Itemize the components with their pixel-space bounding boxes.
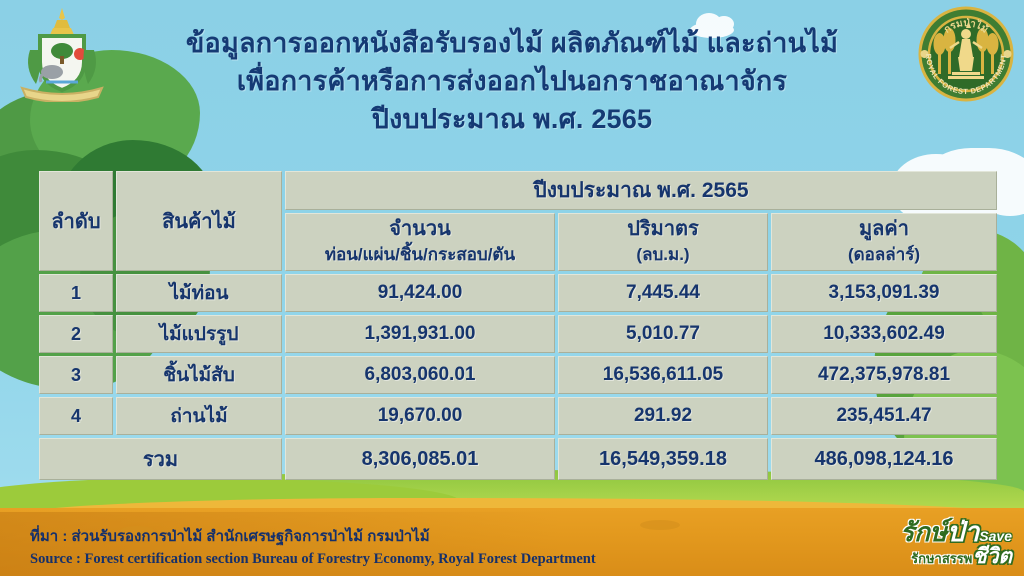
table-row: 3 ชิ้นไม้สับ 6,803,060.01 16,536,611.05 … (39, 356, 997, 394)
row-index: 2 (39, 315, 113, 353)
column-header-quantity: จำนวน ท่อน/แผ่น/ชิ้น/กระสอบ/ตัน (285, 213, 555, 271)
column-header-value: มูลค่า (ดอลล่าร์) (771, 213, 997, 271)
row-quantity: 19,670.00 (285, 397, 555, 435)
row-value: 3,153,091.39 (771, 274, 997, 312)
row-index: 4 (39, 397, 113, 435)
row-value: 10,333,602.49 (771, 315, 997, 353)
row-value: 235,451.47 (771, 397, 997, 435)
column-header-volume-units: (ลบ.ม.) (563, 242, 763, 268)
row-value: 472,375,978.81 (771, 356, 997, 394)
table-header-row-1: ลำดับ สินค้าไม้ ปีงบประมาณ พ.ศ. 2565 (39, 171, 997, 210)
slide-canvas: กรมป่าไม้ ROYAL FOREST DEPARTMENT ข้อมูล… (0, 0, 1024, 576)
row-volume: 291.92 (558, 397, 768, 435)
total-quantity: 8,306,085.01 (285, 438, 555, 480)
table-body: 1 ไม้ท่อน 91,424.00 7,445.44 3,153,091.3… (39, 274, 997, 480)
row-index: 1 (39, 274, 113, 312)
column-header-value-units: (ดอลล่าร์) (776, 242, 992, 268)
table-row: 2 ไม้แปรรูป 1,391,931.00 5,010.77 10,333… (39, 315, 997, 353)
table-header: ลำดับ สินค้าไม้ ปีงบประมาณ พ.ศ. 2565 จำน… (39, 171, 997, 271)
total-value: 486,098,124.16 (771, 438, 997, 480)
table-row: 1 ไม้ท่อน 91,424.00 7,445.44 3,153,091.3… (39, 274, 997, 312)
report-table-container: ลำดับ สินค้าไม้ ปีงบประมาณ พ.ศ. 2565 จำน… (36, 168, 988, 483)
column-header-product: สินค้าไม้ (116, 171, 282, 271)
row-quantity: 1,391,931.00 (285, 315, 555, 353)
row-quantity: 91,424.00 (285, 274, 555, 312)
row-volume: 16,536,611.05 (558, 356, 768, 394)
total-volume: 16,549,359.18 (558, 438, 768, 480)
table-row: 4 ถ่านไม้ 19,670.00 291.92 235,451.47 (39, 397, 997, 435)
title-line-2: เพื่อการค้าหรือการส่งออกไปนอกราชอาณาจักร (0, 62, 1024, 100)
column-header-quantity-main: จำนวน (389, 218, 451, 240)
column-header-volume-main: ปริมาตร (627, 218, 699, 240)
column-header-index: ลำดับ (39, 171, 113, 271)
source-english: Source : Forest certification section Bu… (30, 548, 730, 570)
column-header-fiscal-year-group: ปีงบประมาณ พ.ศ. 2565 (285, 171, 997, 210)
row-product: ไม้แปรรูป (116, 315, 282, 353)
title-line-3: ปีงบประมาณ พ.ศ. 2565 (0, 100, 1024, 138)
row-product: ชิ้นไม้สับ (116, 356, 282, 394)
table-total-row: รวม 8,306,085.01 16,549,359.18 486,098,1… (39, 438, 997, 480)
row-volume: 7,445.44 (558, 274, 768, 312)
watermark-chiwit-text: ชีวิต (972, 545, 1012, 568)
page-title: ข้อมูลการออกหนังสือรับรองไม้ ผลิตภัณฑ์ไม… (0, 24, 1024, 138)
column-header-value-main: มูลค่า (859, 218, 909, 240)
row-index: 3 (39, 356, 113, 394)
row-product: ไม้ท่อน (116, 274, 282, 312)
total-label: รวม (39, 438, 282, 480)
source-note: ที่มา : ส่วนรับรองการป่าไม้ สำนักเศรษฐกิ… (30, 526, 730, 570)
column-header-quantity-units: ท่อน/แผ่น/ชิ้น/กระสอบ/ตัน (290, 242, 550, 268)
title-line-1: ข้อมูลการออกหนังสือรับรองไม้ ผลิตภัณฑ์ไม… (0, 24, 1024, 62)
row-volume: 5,010.77 (558, 315, 768, 353)
report-table: ลำดับ สินค้าไม้ ปีงบประมาณ พ.ศ. 2565 จำน… (36, 168, 1000, 483)
campaign-watermark-logo: รักษ์ป่าSave รักษาสรรพชีวิต (842, 510, 1012, 566)
row-quantity: 6,803,060.01 (285, 356, 555, 394)
source-thai: ที่มา : ส่วนรับรองการป่าไม้ สำนักเศรษฐกิ… (30, 526, 730, 548)
row-product: ถ่านไม้ (116, 397, 282, 435)
column-header-volume: ปริมาตร (ลบ.ม.) (558, 213, 768, 271)
watermark-raksa-text: รักษาสรรพ (911, 551, 972, 566)
